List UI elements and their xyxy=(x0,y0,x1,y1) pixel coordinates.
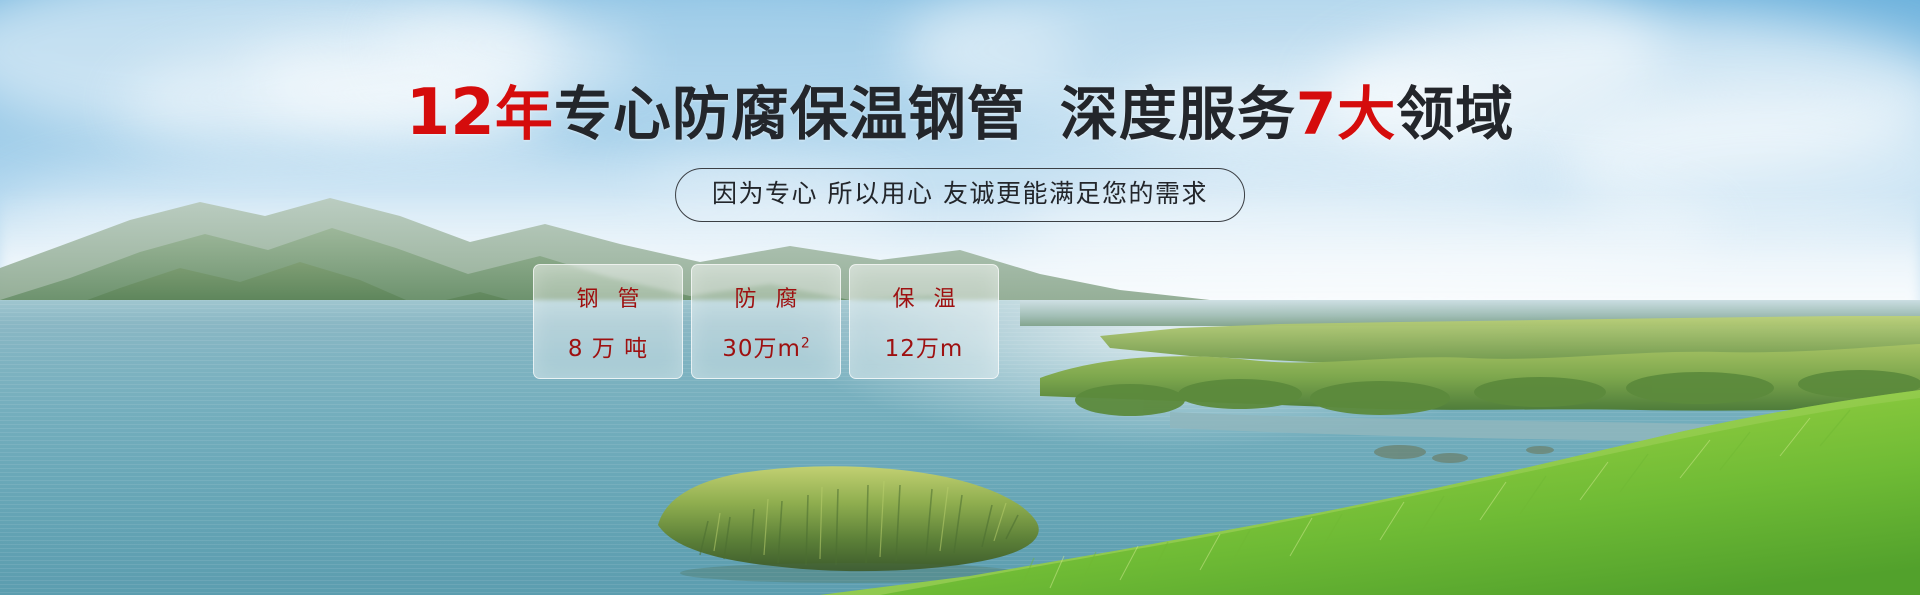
stat-card-value-text: 8 万 吨 xyxy=(568,336,648,362)
grass-bank xyxy=(820,390,1920,595)
stat-card-label: 防 腐 xyxy=(729,281,804,313)
stat-card-insulation[interactable]: 保 温 12万m xyxy=(849,264,999,379)
stat-card-value: 30万m2 xyxy=(722,329,810,363)
stat-card-value: 12万m xyxy=(885,329,964,363)
page-title: 12年专心防腐保温钢管深度服务7大领域 xyxy=(0,82,1920,145)
stat-card-label: 钢 管 xyxy=(571,281,646,313)
headline-part2: 深度服务 xyxy=(1060,80,1296,148)
stat-card-label: 保 温 xyxy=(887,281,962,313)
stat-card-steel-pipe[interactable]: 钢 管 8 万 吨 xyxy=(533,264,683,379)
subtitle-pill: 因为专心 所以用心 友诚更能满足您的需求 xyxy=(675,168,1245,222)
headline-part3: 领域 xyxy=(1396,80,1514,148)
stat-card-value: 8 万 吨 xyxy=(568,329,648,363)
headline-highlight: 7大 xyxy=(1296,80,1396,148)
stat-card-value-text: 30万m xyxy=(722,336,801,362)
stat-card-anticorrosion[interactable]: 防 腐 30万m2 xyxy=(691,264,841,379)
stat-card-value-superscript: 2 xyxy=(801,335,810,351)
headline-number-unit: 年 xyxy=(495,80,554,148)
stat-card-value-text: 12万m xyxy=(885,336,964,362)
promo-banner: 12年专心防腐保温钢管深度服务7大领域 因为专心 所以用心 友诚更能满足您的需求… xyxy=(0,0,1920,595)
headline-part1: 专心防腐保温钢管 xyxy=(554,80,1026,148)
stat-card-group: 钢 管 8 万 吨 防 腐 30万m2 保 温 12万m xyxy=(533,264,999,379)
headline-number: 12 xyxy=(406,76,495,150)
